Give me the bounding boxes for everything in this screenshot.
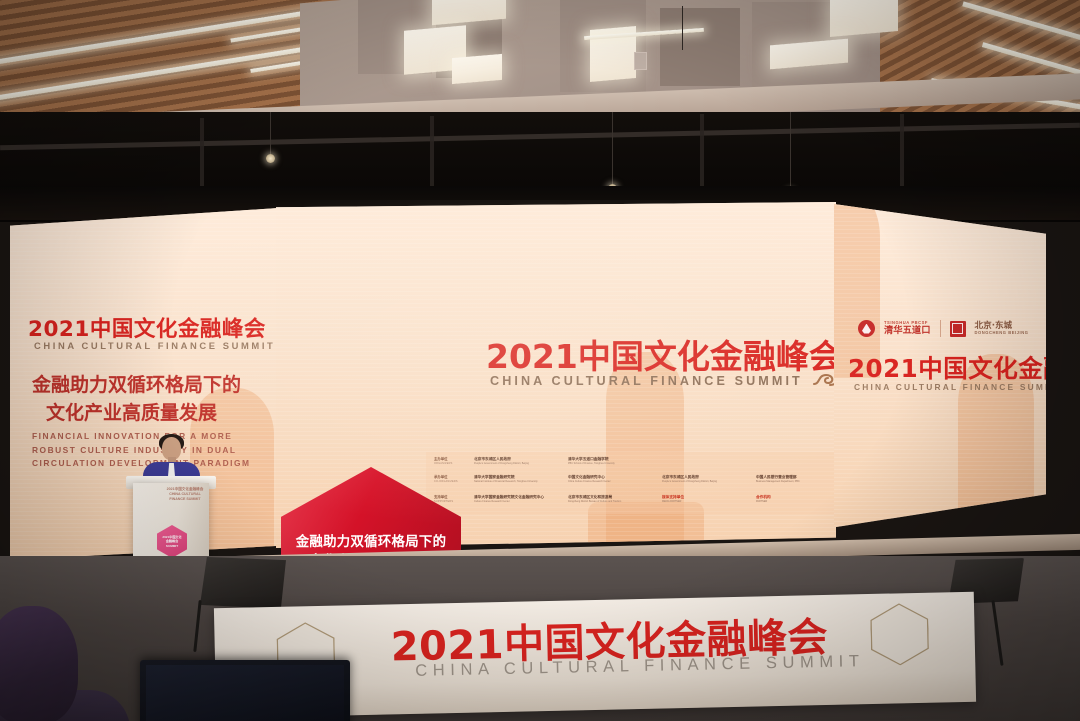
tsinghua-pbcsf-logo-icon <box>858 320 875 337</box>
center-title-en: CHINA CULTURAL FINANCE SUMMIT <box>490 374 803 388</box>
stage-monitor-speaker <box>200 557 286 609</box>
podium-hexagon-badge: 2021中国文化金融峰会SUMMIT <box>157 525 187 558</box>
dongcheng-seal-icon <box>950 321 966 337</box>
ceiling-block <box>660 8 740 86</box>
podium-text-en: CHINA CULTURAL FINANCE SUMMIT <box>163 492 207 502</box>
logo-divider <box>940 320 941 337</box>
logo-primary-cn: 清华五道口 <box>884 326 931 336</box>
ceiling <box>0 0 1080 128</box>
left-panel-theme-cn-1: 金融助力双循环格局下的 <box>32 370 241 397</box>
led-wall-right-panel: TSINGHUA PBCSF 清华五道口 北京·东城 DONGCHENG BEI… <box>834 204 1046 534</box>
partner-logos: TSINGHUA PBCSF 清华五道口 北京·东城 DONGCHENG BEI… <box>858 320 1028 337</box>
right-panel-title-en: CHINA CULTURAL FINANCE SUMMIT <box>854 382 1046 392</box>
sponsor-item: 北京市东城区人民政府 People's Government of Dongch… <box>474 457 558 465</box>
sponsor-item: 北京市东城区人民政府 People's Government of Dongch… <box>662 475 746 483</box>
tsinghua-pbcsf-logo-text: TSINGHUA PBCSF 清华五道口 <box>884 321 931 335</box>
podium-top-text: 2021中国文化金融峰会 CHINA CULTURAL FINANCE SUMM… <box>163 487 207 502</box>
lamp-wire <box>612 112 613 184</box>
right-panel-title-cn: 2021中国文化金融峰会 <box>848 350 1046 385</box>
truss-beam <box>0 123 1080 151</box>
logo-secondary-en: DONGCHENG BEIJING <box>975 331 1029 335</box>
hexagon-outline-decor <box>870 603 929 666</box>
center-title-cn: 2021中国文化金融峰会 <box>486 330 836 378</box>
ceiling-light-panel <box>830 0 898 37</box>
confidence-monitor <box>140 660 350 721</box>
left-panel-title-cn: 2021中国文化金融峰会 <box>28 312 266 343</box>
sponsor-item: 北京市东城区文化和旅游局 Dongcheng District Bureau o… <box>568 495 652 503</box>
cloud-swirl-icon <box>812 369 836 389</box>
sponsor-item: 中国文化金融研究中心 China Culture Finance Researc… <box>568 475 652 483</box>
ceiling-light-panel <box>452 54 502 84</box>
sponsor-item: 清华大学五道口金融学院 PBC School of Finance, Tsing… <box>568 457 652 465</box>
sponsor-label-en: ORGANIZERS <box>434 462 464 465</box>
monitor-screen <box>146 665 344 721</box>
ceiling-sensor <box>634 52 647 70</box>
left-panel-title-en: CHINA CULTURAL FINANCE SUMMIT <box>34 340 275 351</box>
sponsor-row: 主办单位 ORGANIZERS 北京市东城区人民政府 People's Gove… <box>434 457 652 465</box>
audience-head <box>0 606 78 721</box>
sponsor-row: 支持单位 SUPPORTERS 清华大学国家金融研究院文化金融研究中心 Cult… <box>434 495 836 503</box>
hanging-lamp <box>266 154 275 163</box>
left-panel-theme-cn-2: 文化产业高质量发展 <box>46 398 217 425</box>
hexagon-theme-cn-1: 金融助力双循环格局下的 <box>281 530 461 550</box>
sponsor-item: 清华大学国家金融研究院文化金融研究中心 Culture Finance Rese… <box>474 495 558 503</box>
lamp-wire <box>790 112 791 190</box>
sponsor-item: 媒体支持单位 MEDIA PARTNER <box>662 495 746 503</box>
sponsor-item: 清华大学国家金融研究院 National Institute of Financ… <box>474 475 558 483</box>
sponsor-item: 中国人民银行营业管理部 Business Management Departme… <box>756 475 836 483</box>
sponsor-item: 合作机构 PARTNER <box>756 495 836 503</box>
conference-photo: 2021中国文化金融峰会 CHINA CULTURAL FINANCE SUMM… <box>0 0 1080 721</box>
lamp-wire <box>270 112 271 154</box>
ceiling-cable <box>682 6 683 50</box>
sponsor-row: 承办单位 CO-ORGANIZERS 清华大学国家金融研究院 National … <box>434 475 836 483</box>
sponsor-row-label: 主办单位 ORGANIZERS <box>434 457 464 465</box>
dongcheng-logo-text: 北京·东城 DONGCHENG BEIJING <box>975 322 1029 335</box>
podium-badge-text: 2021中国文化金融峰会SUMMIT <box>160 535 184 548</box>
sponsor-strip: 主办单位 ORGANIZERS 北京市东城区人民政府 People's Gove… <box>426 452 836 514</box>
